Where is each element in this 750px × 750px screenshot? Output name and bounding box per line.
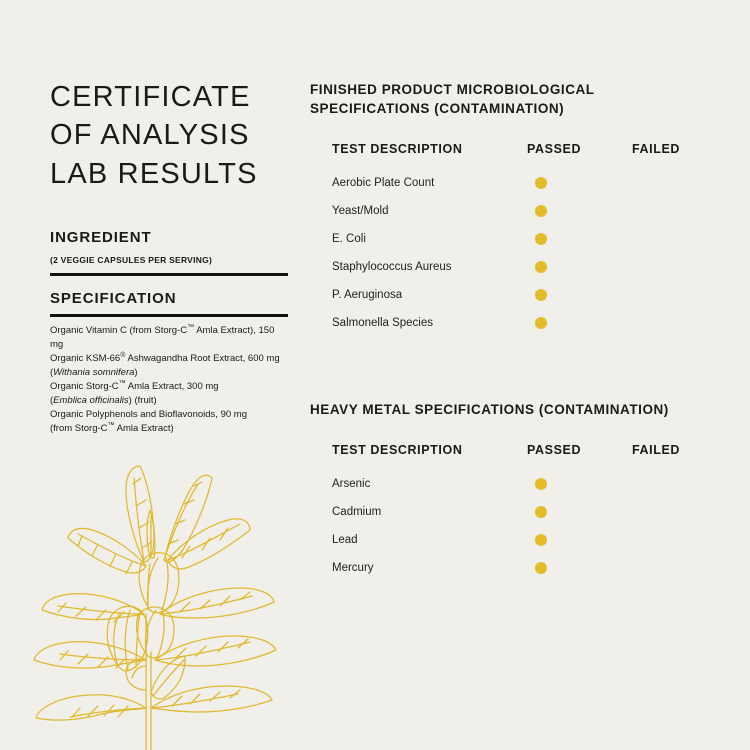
passed-cell: [527, 177, 632, 189]
spec-line: Organic Storg-C™ Amla Extract, 300 mg: [50, 380, 288, 394]
heavy-metal-table: TEST DESCRIPTION PASSED FAILED ArsenicCa…: [332, 443, 718, 582]
test-description-cell: Mercury: [332, 562, 527, 574]
status-dot-passed: [535, 261, 547, 273]
certificate-page: CERTIFICATE OF ANALYSIS LAB RESULTS INGR…: [0, 0, 750, 750]
column-header-failed: FAILED: [632, 142, 718, 156]
status-dot-passed: [535, 478, 547, 490]
spec-line: Organic Polyphenols and Bioflavonoids, 9…: [50, 408, 288, 422]
table-row: Aerobic Plate Count: [332, 169, 718, 197]
table-header-row: TEST DESCRIPTION PASSED FAILED: [332, 443, 718, 457]
microbiological-heading: FINISHED PRODUCT MICROBIOLOGICAL SPECIFI…: [310, 80, 718, 118]
spec-line: Organic Vitamin C (from Storg-C™ Amla Ex…: [50, 324, 288, 352]
table-row: P. Aeruginosa: [332, 281, 718, 309]
table-row: Salmonella Species: [332, 309, 718, 337]
ingredient-section: INGREDIENT (2 VEGGIE CAPSULES PER SERVIN…: [50, 229, 288, 436]
status-dot-passed: [535, 233, 547, 245]
spec-line: (Withania somnifera): [50, 366, 288, 380]
test-description-cell: E. Coli: [332, 233, 527, 245]
column-header-description: TEST DESCRIPTION: [332, 142, 527, 156]
status-dot-passed: [535, 317, 547, 329]
table-row: Cadmium: [332, 498, 718, 526]
status-dot-passed: [535, 534, 547, 546]
heavy-metal-section: HEAVY METAL SPECIFICATIONS (CONTAMINATIO…: [310, 400, 730, 582]
divider-bottom: [50, 314, 288, 317]
spec-line: (Emblica officinalis) (fruit): [50, 394, 288, 408]
status-dot-passed: [535, 289, 547, 301]
serving-note: (2 VEGGIE CAPSULES PER SERVING): [50, 255, 288, 265]
test-description-cell: Yeast/Mold: [332, 205, 527, 217]
passed-cell: [527, 478, 632, 490]
microbiological-heading-line-2: SPECIFICATIONS (CONTAMINATION): [310, 99, 718, 118]
passed-cell: [527, 233, 632, 245]
column-header-failed: FAILED: [632, 443, 718, 457]
test-description-cell: Salmonella Species: [332, 317, 527, 329]
table-row: Mercury: [332, 554, 718, 582]
table-header-row: TEST DESCRIPTION PASSED FAILED: [332, 142, 718, 156]
column-header-passed: PASSED: [527, 142, 632, 156]
microbiological-table: TEST DESCRIPTION PASSED FAILED Aerobic P…: [332, 142, 718, 337]
page-title: CERTIFICATE OF ANALYSIS LAB RESULTS: [50, 78, 288, 193]
test-description-cell: Cadmium: [332, 506, 527, 518]
passed-cell: [527, 261, 632, 273]
microbiological-section: FINISHED PRODUCT MICROBIOLOGICAL SPECIFI…: [310, 80, 718, 337]
passed-cell: [527, 205, 632, 217]
status-dot-passed: [535, 177, 547, 189]
test-description-cell: Lead: [332, 534, 527, 546]
column-header-passed: PASSED: [527, 443, 632, 457]
column-header-description: TEST DESCRIPTION: [332, 443, 527, 457]
test-description-cell: Arsenic: [332, 478, 527, 490]
table-row: Lead: [332, 526, 718, 554]
test-description-cell: P. Aeruginosa: [332, 289, 527, 301]
microbiological-rows: Aerobic Plate CountYeast/MoldE. ColiStap…: [332, 169, 718, 337]
passed-cell: [527, 562, 632, 574]
ashwagandha-plant-illustration: [22, 420, 288, 750]
status-dot-passed: [535, 205, 547, 217]
spec-line: (from Storg-C™ Amla Extract): [50, 422, 288, 436]
table-row: Yeast/Mold: [332, 197, 718, 225]
heavy-metal-heading: HEAVY METAL SPECIFICATIONS (CONTAMINATIO…: [310, 400, 730, 419]
passed-cell: [527, 317, 632, 329]
status-dot-passed: [535, 506, 547, 518]
table-row: E. Coli: [332, 225, 718, 253]
divider-top: [50, 273, 288, 276]
ingredient-heading: INGREDIENT: [50, 229, 288, 246]
spec-line: Organic KSM-66® Ashwagandha Root Extract…: [50, 352, 288, 366]
test-description-cell: Aerobic Plate Count: [332, 177, 527, 189]
test-description-cell: Staphylococcus Aureus: [332, 261, 527, 273]
table-row: Arsenic: [332, 470, 718, 498]
passed-cell: [527, 506, 632, 518]
passed-cell: [527, 534, 632, 546]
left-column: CERTIFICATE OF ANALYSIS LAB RESULTS INGR…: [50, 78, 288, 436]
microbiological-heading-line-1: FINISHED PRODUCT MICROBIOLOGICAL: [310, 80, 718, 99]
status-dot-passed: [535, 562, 547, 574]
specification-heading: SPECIFICATION: [50, 290, 288, 307]
title-line-2: OF ANALYSIS: [50, 116, 288, 154]
table-row: Staphylococcus Aureus: [332, 253, 718, 281]
passed-cell: [527, 289, 632, 301]
specification-list: Organic Vitamin C (from Storg-C™ Amla Ex…: [50, 324, 288, 436]
title-line-1: CERTIFICATE: [50, 78, 288, 116]
heavy-metal-rows: ArsenicCadmiumLeadMercury: [332, 470, 718, 582]
title-line-3: LAB RESULTS: [50, 155, 288, 193]
